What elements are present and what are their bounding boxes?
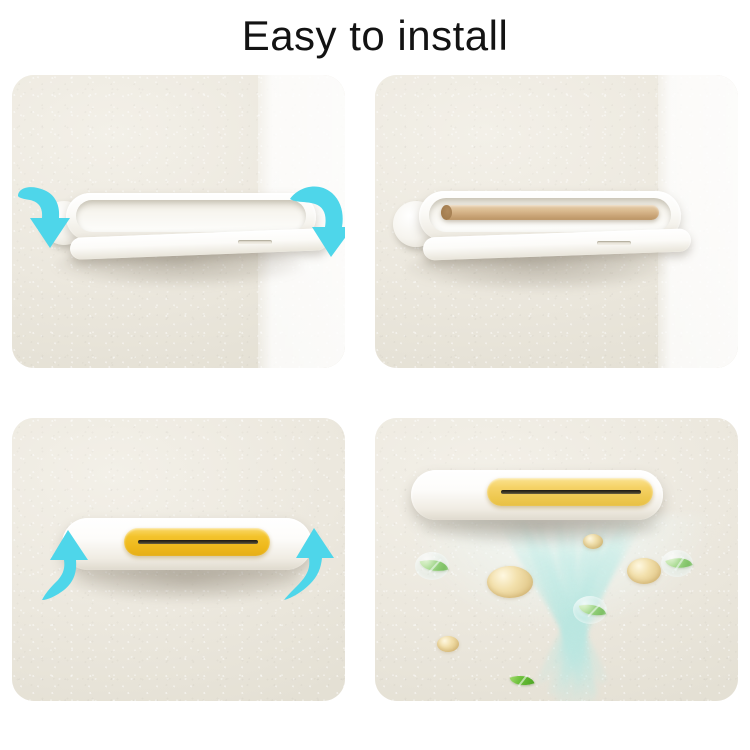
step-1-image: [12, 75, 345, 368]
mist-bubble: [573, 596, 607, 624]
arrow-close-left-icon: [40, 530, 100, 604]
step-3-cell: [12, 418, 345, 701]
mist-bubble: [415, 552, 449, 580]
step-2-cell: [375, 75, 738, 368]
mist-bubble: [661, 550, 693, 577]
aromatherapy-box-installed: [411, 470, 663, 526]
oil-droplet: [627, 558, 661, 584]
box-tray-cavity: [76, 200, 306, 232]
step-4-image: [375, 418, 738, 701]
step-1-cell: [12, 75, 345, 368]
oil-droplet: [583, 534, 603, 549]
product-instruction-infographic: Easy to install: [0, 0, 750, 750]
arrow-open-left-icon: [14, 180, 80, 258]
oil-droplet: [437, 636, 459, 652]
aromatherapy-box-open: [42, 193, 317, 273]
arrow-open-right-icon: [284, 177, 345, 259]
vent-slot: [501, 490, 641, 494]
strip-end-cap: [441, 205, 452, 220]
vent-slot: [138, 540, 258, 544]
page-title: Easy to install: [0, 10, 750, 62]
aromatherapy-box-open-with-strip: [393, 191, 693, 275]
step-2-image: [375, 75, 738, 368]
lid-notch: [238, 240, 272, 244]
lid-notch: [597, 241, 631, 245]
step-3-image: [12, 418, 345, 701]
steps-grid: 1. Attach the aromatherapy box to the wa…: [0, 75, 750, 750]
step-4-cell: [375, 418, 738, 701]
aromatherapy-strip: [441, 205, 659, 220]
oil-droplet: [487, 566, 533, 598]
arrow-close-right-icon: [280, 528, 342, 604]
